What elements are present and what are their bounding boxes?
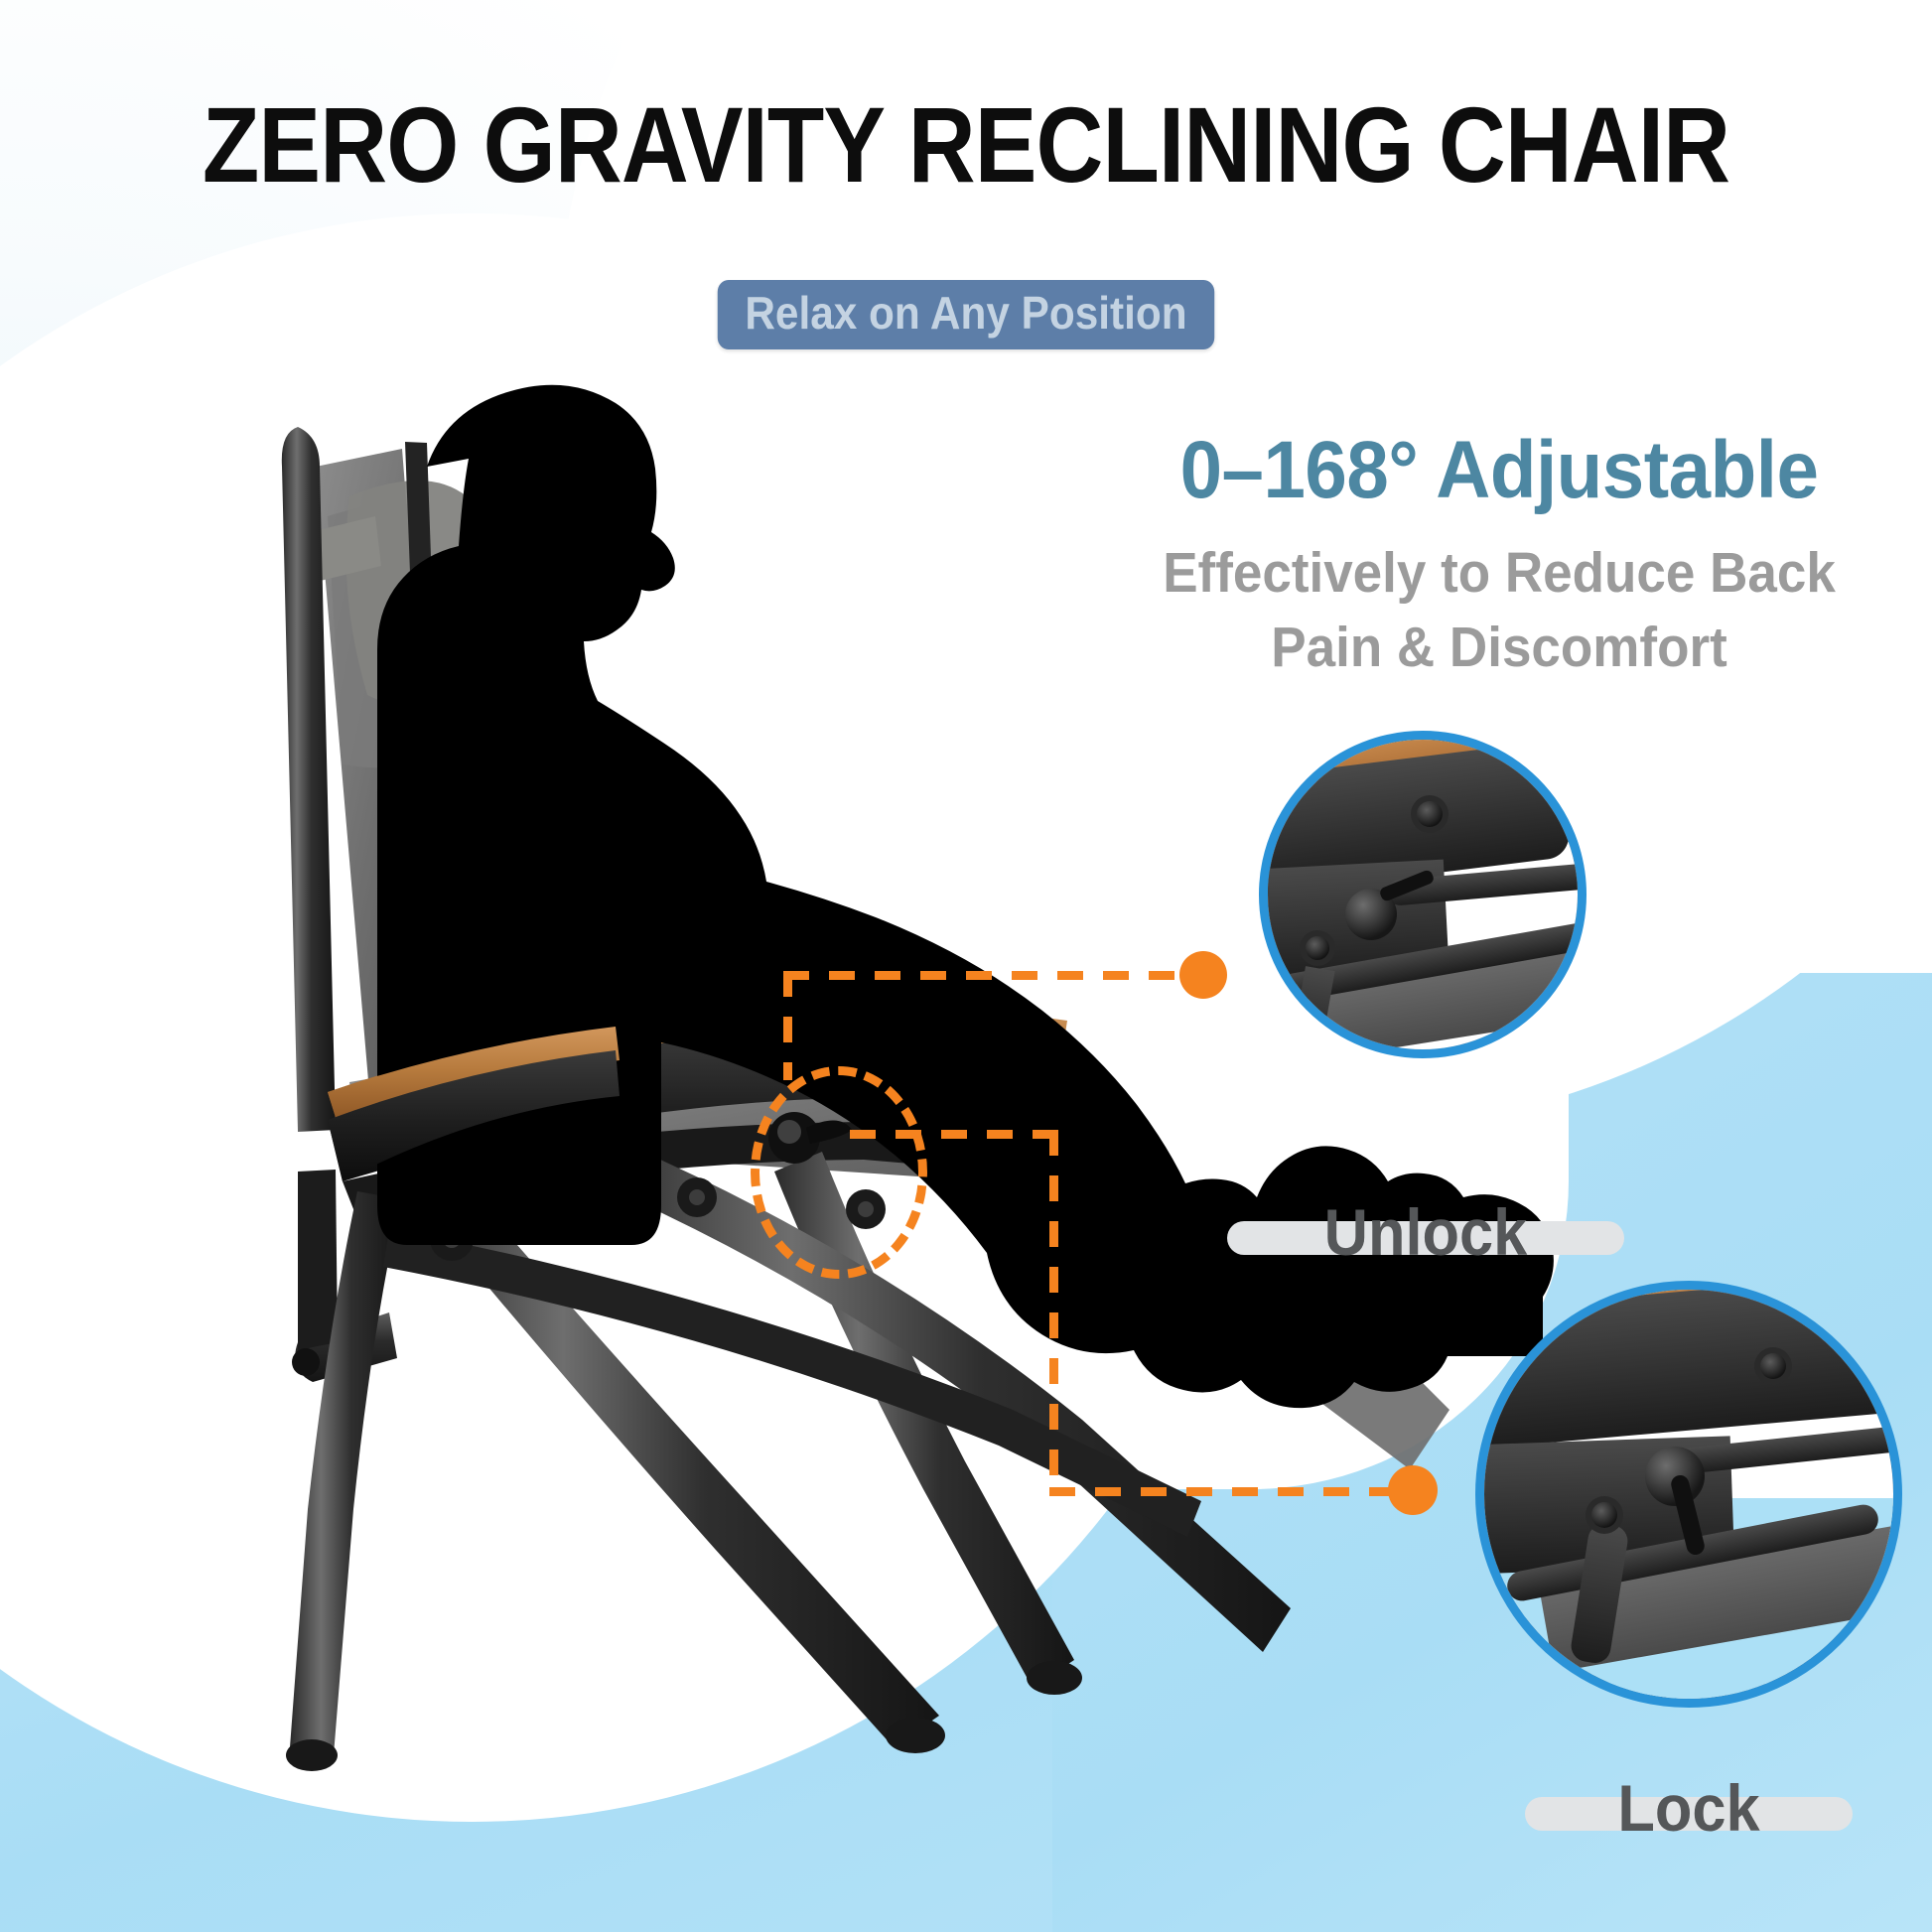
feature-headline: 0–168° Adjustable [1149,429,1851,512]
label-lock: Lock [1525,1775,1853,1841]
detail-circle-lock[interactable] [1475,1281,1902,1708]
callout-line-vertical-left [783,971,792,1080]
infographic-canvas: ZERO GRAVITY RECLINING CHAIR Relax on An… [0,0,1932,1932]
callout-line-top [783,971,1198,980]
feature-subtext: Effectively to Reduce Back Pain & Discom… [1149,536,1851,685]
feature-text-block: 0–168° Adjustable Effectively to Reduce … [1122,429,1876,685]
callout-line-mid [850,1130,1058,1139]
detail-photo-unlock [1268,740,1578,1049]
feature-subtext-line-1: Effectively to Reduce Back [1149,536,1851,611]
callout-line-bottom [1049,1487,1407,1496]
feature-subtext-line-2: Pain & Discomfort [1149,611,1851,685]
label-unlock-text: Unlock [1241,1199,1610,1265]
subtitle-badge: Relax on Any Position [718,280,1214,349]
detail-circle-unlock[interactable] [1259,731,1587,1058]
callout-highlight-ellipse [751,1066,927,1279]
label-lock-text: Lock [1537,1775,1842,1841]
callout-line-vertical-right [1049,1130,1058,1495]
callout-dot-unlock [1179,951,1227,999]
page-title: ZERO GRAVITY RECLINING CHAIR [125,91,1806,199]
detail-photo-lock [1484,1290,1893,1699]
callout-dot-lock [1388,1465,1438,1515]
label-unlock: Unlock [1227,1199,1624,1265]
subtitle-badge-wrap: Relax on Any Position [0,280,1932,349]
